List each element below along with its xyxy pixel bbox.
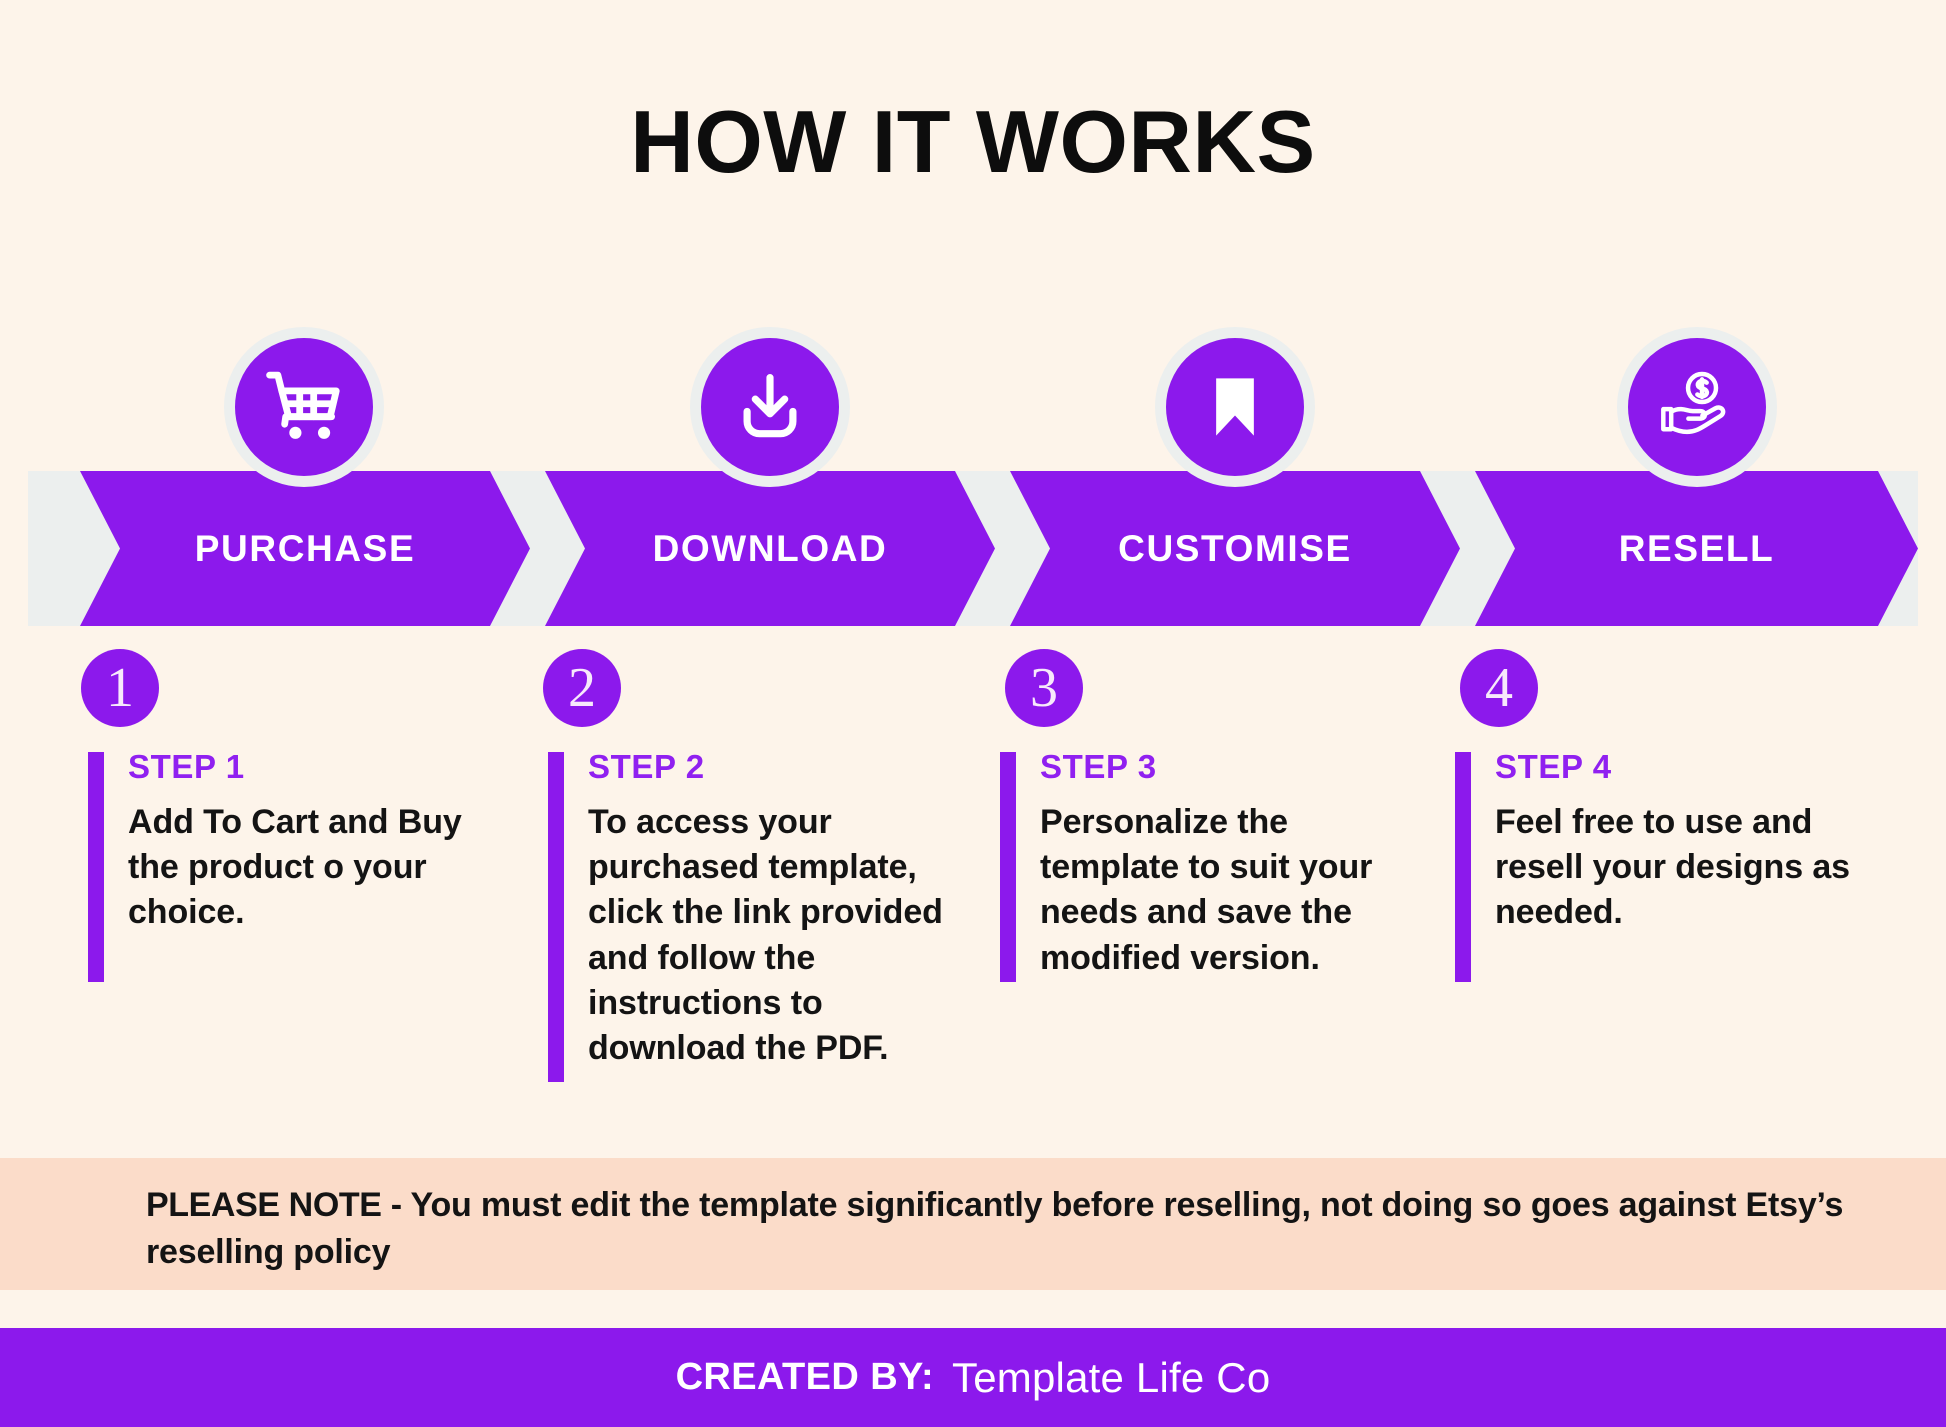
please-note-strip: PLEASE NOTE - You must edit the template… — [0, 1158, 1946, 1290]
step-kicker-2: STEP 2 — [588, 748, 968, 786]
bookmark-icon — [1196, 368, 1274, 446]
shopping-cart-icon — [261, 364, 347, 450]
step-block-3: STEP 3 Personalize the template to suit … — [1000, 748, 1420, 981]
stage-label-purchase: PURCHASE — [80, 471, 530, 626]
step-number-2: 2 — [543, 649, 621, 727]
step-number-4: 4 — [1460, 649, 1538, 727]
step-accent-bar — [1455, 752, 1471, 982]
infographic-page: HOW IT WORKS PURCHASE DOWNLOAD CUSTOMISE… — [0, 0, 1946, 1427]
step-kicker-4: STEP 4 — [1495, 748, 1875, 786]
step-block-4: STEP 4 Feel free to use and resell your … — [1455, 748, 1875, 936]
step-block-1: STEP 1 Add To Cart and Buy the product o… — [88, 748, 508, 936]
page-title: HOW IT WORKS — [0, 98, 1946, 186]
step-accent-bar — [1000, 752, 1016, 982]
step-number-1: 1 — [81, 649, 159, 727]
step-kicker-3: STEP 3 — [1040, 748, 1420, 786]
stage-label-download: DOWNLOAD — [545, 471, 995, 626]
step-number-3: 3 — [1005, 649, 1083, 727]
footer-bar: CREATED BY: Template Life Co — [0, 1328, 1946, 1427]
please-note-heading: PLEASE NOTE — [146, 1186, 382, 1224]
stage-icon-badge-4 — [1617, 327, 1777, 487]
step-kicker-1: STEP 1 — [128, 748, 508, 786]
step-text-3: Personalize the template to suit your ne… — [1040, 800, 1420, 981]
hand-holding-coin-icon — [1654, 364, 1740, 450]
please-note-body: - You must edit the template significant… — [146, 1186, 1843, 1271]
process-band: PURCHASE DOWNLOAD CUSTOMISE RESELL — [0, 471, 1946, 626]
stage-label-customise: CUSTOMISE — [1010, 471, 1460, 626]
stage-icon-badge-1 — [224, 327, 384, 487]
step-text-4: Feel free to use and resell your designs… — [1495, 800, 1875, 936]
stage-icon-badge-3 — [1155, 327, 1315, 487]
please-note-text: PLEASE NOTE - You must edit the template… — [146, 1182, 1846, 1276]
stage-icon-badge-2 — [690, 327, 850, 487]
created-by-label: CREATED BY: — [676, 1356, 934, 1399]
step-accent-bar — [548, 752, 564, 1082]
step-text-1: Add To Cart and Buy the product o your c… — [128, 800, 508, 936]
download-icon — [729, 366, 811, 448]
stage-label-resell: RESELL — [1475, 471, 1918, 626]
created-by-value: Template Life Co — [952, 1354, 1270, 1402]
step-accent-bar — [88, 752, 104, 982]
step-text-2: To access your purchased template, click… — [588, 800, 968, 1071]
step-block-2: STEP 2 To access your purchased template… — [548, 748, 968, 1071]
